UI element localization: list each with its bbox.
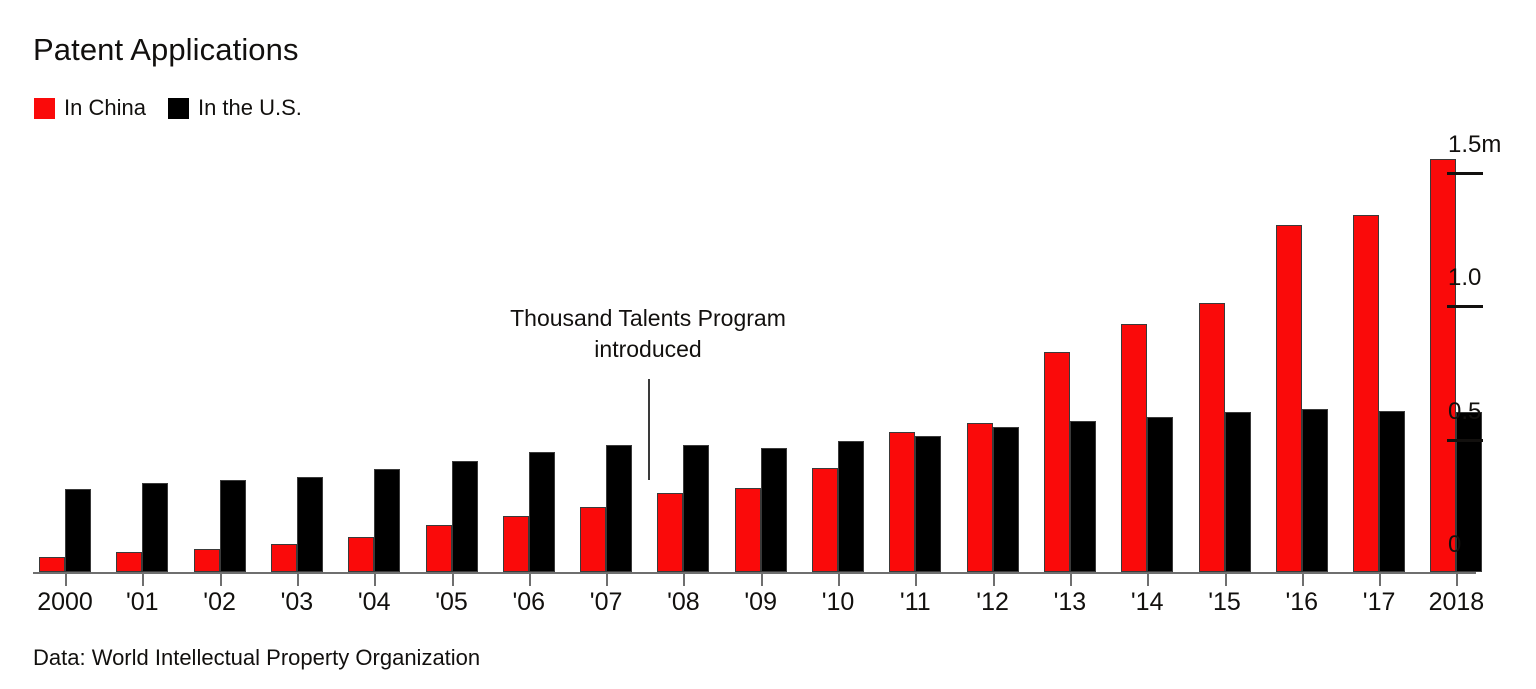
bar-china-2018[interactable] [1430,159,1456,572]
annotation-line-2: introduced [510,334,786,365]
bar-us-2005[interactable] [452,461,478,572]
bar-china-2013[interactable] [1044,352,1070,572]
bar-us-2006[interactable] [529,452,555,572]
bar-china-2015[interactable] [1199,303,1225,572]
bar-us-2011[interactable] [915,436,941,572]
y-axis-label-1: 1.0 [1448,264,1481,292]
x-axis-label-2008: '08 [667,588,700,617]
x-axis-label-2010: '10 [822,588,855,617]
bar-china-2007[interactable] [580,507,606,572]
x-axis-label-2000: 2000 [37,588,93,617]
bar-china-2000[interactable] [39,557,65,572]
x-axis-label-2011: '11 [900,588,931,617]
bar-china-2005[interactable] [426,525,452,572]
x-tick-2000 [65,573,67,586]
bar-us-2000[interactable] [65,489,91,572]
x-axis-label-2003: '03 [281,588,314,617]
x-tick-2014 [1147,573,1149,586]
x-axis-label-2001: '01 [126,588,159,617]
annotation-thousand-talents: Thousand Talents Program introduced [510,303,786,364]
bar-us-2007[interactable] [606,445,632,572]
bar-china-2001[interactable] [116,552,142,572]
bar-us-2008[interactable] [683,445,709,572]
bar-us-2016[interactable] [1302,409,1328,572]
x-tick-2017 [1379,573,1381,586]
bar-us-2003[interactable] [297,477,323,572]
x-axis-label-2007: '07 [590,588,623,617]
x-tick-2013 [1070,573,1072,586]
bar-china-2006[interactable] [503,516,529,572]
x-axis-line [33,572,1476,574]
x-tick-2009 [761,573,763,586]
x-axis-label-2012: '12 [976,588,1009,617]
bar-china-2008[interactable] [657,493,683,572]
x-tick-2008 [683,573,685,586]
bar-china-2016[interactable] [1276,225,1302,572]
bar-us-2001[interactable] [142,483,168,572]
x-tick-2002 [220,573,222,586]
x-tick-2016 [1302,573,1304,586]
bar-us-2014[interactable] [1147,417,1173,572]
bar-us-2017[interactable] [1379,411,1405,572]
x-tick-2015 [1225,573,1227,586]
x-tick-2001 [142,573,144,586]
x-axis-label-2014: '14 [1131,588,1164,617]
x-tick-2006 [529,573,531,586]
x-tick-2007 [606,573,608,586]
bar-china-2012[interactable] [967,423,993,572]
x-tick-2011 [915,573,917,586]
bar-us-2010[interactable] [838,441,864,572]
bar-china-2002[interactable] [194,549,220,572]
x-axis-label-2017: '17 [1363,588,1396,617]
y-axis-label-1-5: 1.5m [1448,131,1501,159]
x-axis-label-2002: '02 [203,588,236,617]
bar-us-2012[interactable] [993,427,1019,572]
y-tick-0-5 [1447,439,1483,442]
source-note: Data: World Intellectual Property Organi… [33,645,480,671]
bar-us-2013[interactable] [1070,421,1096,572]
annotation-line-1: Thousand Talents Program [510,303,786,334]
bar-china-2004[interactable] [348,537,374,572]
y-axis-label-0: 0 [1448,531,1461,559]
annotation-leader-line [648,379,650,480]
x-tick-2005 [452,573,454,586]
x-axis-label-2005: '05 [435,588,468,617]
x-axis-label-2018: 2018 [1429,588,1485,617]
x-tick-2003 [297,573,299,586]
bar-china-2011[interactable] [889,432,915,572]
x-tick-2018 [1456,573,1458,586]
y-axis-label-0-5: 0.5 [1448,398,1481,426]
y-tick-1 [1447,305,1483,308]
y-tick-1-5 [1447,172,1483,175]
x-axis-label-2013: '13 [1054,588,1087,617]
bar-china-2014[interactable] [1121,324,1147,572]
bar-china-2017[interactable] [1353,215,1379,572]
bar-china-2003[interactable] [271,544,297,572]
x-axis-label-2004: '04 [358,588,391,617]
x-tick-2012 [993,573,995,586]
x-axis-label-2009: '09 [744,588,777,617]
x-tick-2010 [838,573,840,586]
bar-us-2004[interactable] [374,469,400,572]
x-axis-label-2006: '06 [513,588,546,617]
bar-us-2002[interactable] [220,480,246,572]
bar-us-2015[interactable] [1225,412,1251,572]
bar-us-2009[interactable] [761,448,787,572]
x-axis-label-2015: '15 [1208,588,1241,617]
bar-china-2010[interactable] [812,468,838,572]
bar-china-2009[interactable] [735,488,761,572]
x-axis-label-2016: '16 [1286,588,1319,617]
x-tick-2004 [374,573,376,586]
